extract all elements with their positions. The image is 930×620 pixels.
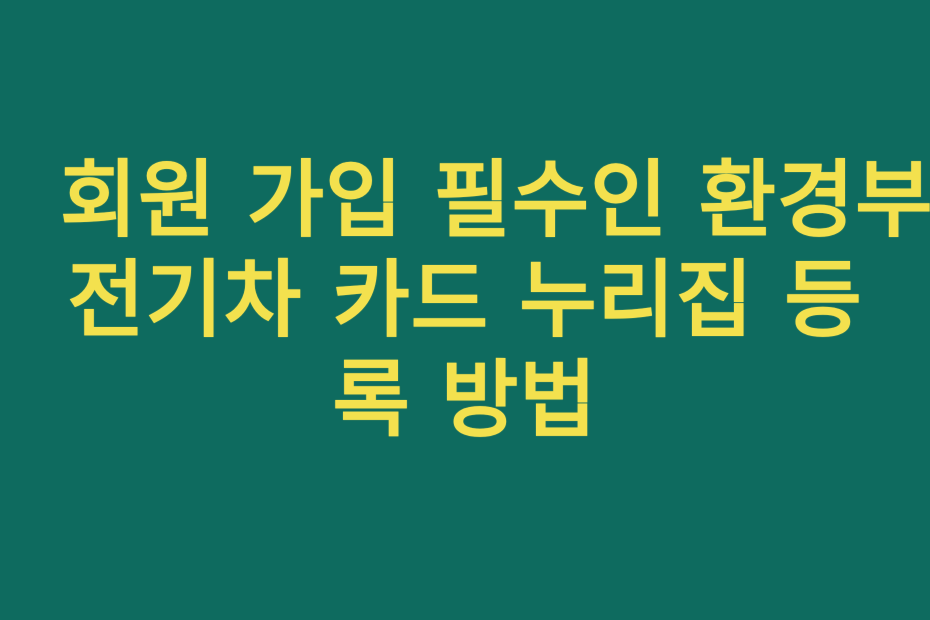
title-line-3: 록 방법 [60, 350, 870, 450]
thumbnail-card: 회원 가입 필수인 환경부 전기차 카드 누리집 등 록 방법 [0, 0, 930, 620]
title-line-1: 회원 가입 필수인 환경부 [60, 150, 870, 250]
title-text-block: 회원 가입 필수인 환경부 전기차 카드 누리집 등 록 방법 [60, 150, 870, 450]
title-line-2: 전기차 카드 누리집 등 [60, 250, 870, 350]
